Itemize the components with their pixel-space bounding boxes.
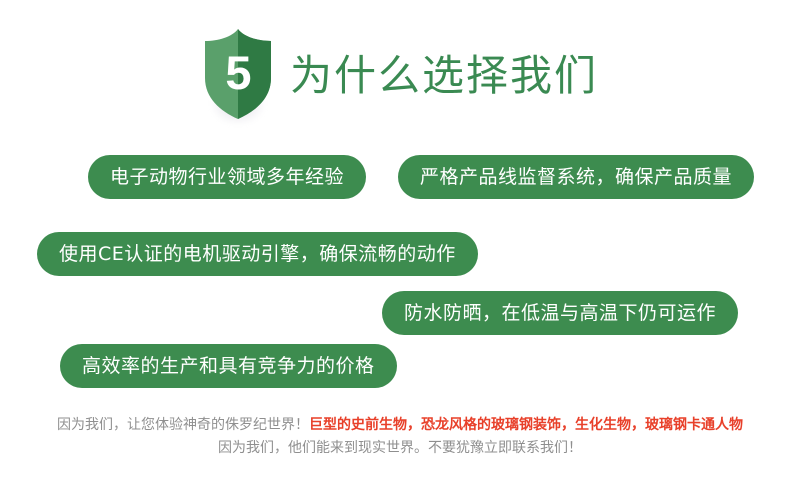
page-title: 为什么选择我们: [290, 55, 598, 97]
feature-pill-2: 严格产品线监督系统，确保产品质量: [398, 155, 754, 199]
badge-number: 5: [202, 28, 274, 116]
footer-text: 因为我们，让您体验神奇的侏罗纪世界！巨型的史前生物，恐龙风格的玻璃钢装饰，生化生…: [0, 414, 800, 460]
footer-line-2: 因为我们，他们能来到现实世界。不要犹豫立即联系我们！: [0, 437, 800, 460]
header: 5 为什么选择我们: [0, 22, 800, 130]
feature-pill-1: 电子动物行业领域多年经验: [88, 155, 366, 199]
feature-pill-3: 使用CE认证的电机驱动引擎，确保流畅的动作: [37, 232, 478, 276]
feature-pill-5: 高效率的生产和具有竞争力的价格: [60, 344, 397, 388]
why-choose-us-banner: 5 为什么选择我们 电子动物行业领域多年经验 严格产品线监督系统，确保产品质量 …: [0, 0, 800, 485]
footer-line-1-prefix: 因为我们，让您体验神奇的侏罗纪世界！: [57, 417, 309, 433]
footer-line-1: 因为我们，让您体验神奇的侏罗纪世界！巨型的史前生物，恐龙风格的玻璃钢装饰，生化生…: [0, 414, 800, 437]
footer-line-1-highlight: 巨型的史前生物，恐龙风格的玻璃钢装饰，生化生物，玻璃钢卡通人物: [309, 417, 743, 433]
feature-pill-4: 防水防晒，在低温与高温下仍可运作: [382, 291, 738, 335]
badge: 5: [202, 28, 274, 124]
